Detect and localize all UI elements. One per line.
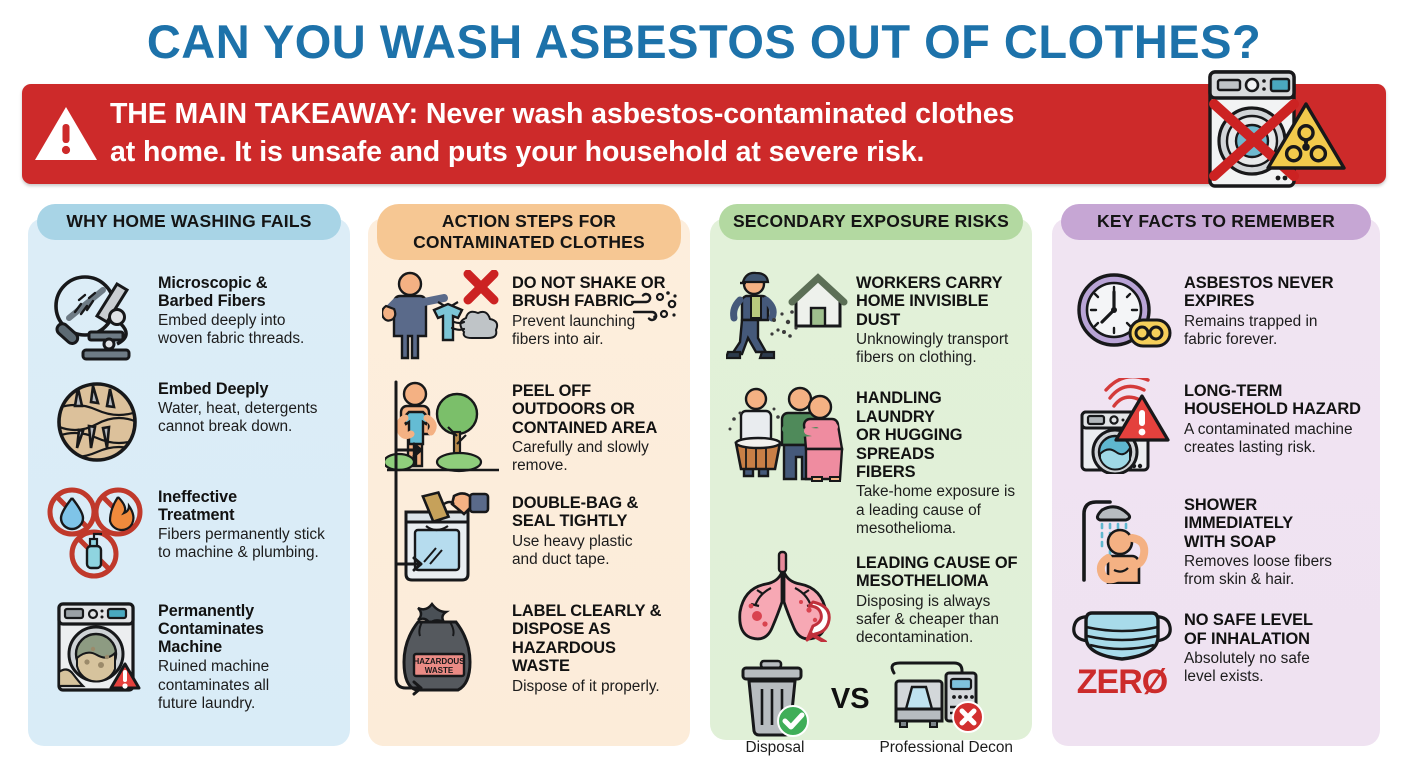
list-item: Microscopic & Barbed Fibers Embed deeply… — [42, 270, 336, 362]
item-title: ASBESTOS NEVER EXPIRES — [1184, 274, 1366, 311]
microscope-fiber-icon — [42, 270, 152, 362]
item-title: Permanently Contaminates Machine — [158, 602, 336, 656]
item-body: Unknowingly transport fibers on clothing… — [856, 331, 1018, 367]
item-title: PEEL OFF OUTDOORS OR CONTAINED AREA — [512, 382, 676, 437]
laundry-basket-hugging-couple-icon — [724, 385, 850, 485]
panel-action-steps: ACTION STEPS FOR CONTAMINATED CLOTHES — [368, 218, 690, 746]
list-item: LEADING CAUSE OF MESOTHELIOMA Disposing … — [724, 550, 1018, 647]
face-mask-icon: ZERØ — [1066, 603, 1178, 702]
infographic-root: CAN YOU WASH ASBESTOS OUT OF CLOTHES? TH… — [0, 0, 1408, 768]
item-body: Absolutely no safe level exists. — [1184, 650, 1366, 686]
person-shaking-shirt-prohibited-icon — [382, 270, 506, 364]
washing-machine-prohibited-biohazard-icon — [1196, 68, 1348, 190]
item-title: Embed Deeply — [158, 380, 336, 398]
vs-label: VS — [831, 683, 870, 716]
list-item: DO NOT SHAKE OR BRUSH FABRIC Prevent lau… — [382, 270, 676, 364]
zero-label: ZERØ — [1077, 663, 1167, 702]
list-item: DOUBLE-BAG & SEAL TIGHTLY Use heavy plas… — [382, 490, 676, 584]
page-title: CAN YOU WASH ASBESTOS OUT OF CLOTHES? — [0, 14, 1408, 69]
list-item: Ineffective Treatment Fibers permanently… — [42, 484, 336, 582]
trash-can-icon — [729, 659, 821, 737]
item-title: WORKERS CARRY HOME INVISIBLE DUST — [856, 274, 1018, 329]
washing-machine-alert-icon — [1066, 378, 1178, 474]
decontamination-machine-icon — [880, 659, 1013, 737]
panel-why-home-washing-fails: WHY HOME WASHING FAILS — [28, 218, 350, 746]
clock-infinity-icon — [1066, 270, 1178, 360]
fabric-weave-fibers-icon — [42, 376, 152, 468]
item-title: NO SAFE LEVEL OF INHALATION — [1184, 611, 1366, 648]
comparison-left: Disposal — [729, 659, 821, 757]
item-title: LEADING CAUSE OF MESOTHELIOMA — [856, 554, 1018, 591]
item-body: Removes loose fibers from skin & hair. — [1184, 553, 1366, 589]
panel-heading-col4: KEY FACTS TO REMEMBER — [1061, 204, 1371, 240]
person-removing-shirt-outdoors-icon — [382, 378, 506, 478]
no-water-no-heat-no-detergent-icon — [42, 484, 152, 582]
diseased-lungs-ribbon-icon — [724, 550, 850, 642]
panel-secondary-exposure-risks: SECONDARY EXPOSURE RISKS — [710, 218, 1032, 740]
item-title: LONG-TERM HOUSEHOLD HAZARD — [1184, 382, 1366, 419]
item-title: Microscopic & Barbed Fibers — [158, 274, 336, 310]
banner-line1-rest: Never wash asbestos-contaminated clothes — [418, 98, 1014, 130]
panel-heading-col3: SECONDARY EXPOSURE RISKS — [719, 204, 1023, 240]
banner-lead: THE MAIN TAKEAWAY: — [110, 98, 418, 130]
item-body: A contaminated machine creates lasting r… — [1184, 421, 1366, 457]
list-item: Embed Deeply Water, heat, detergents can… — [42, 376, 336, 468]
comparison-right: Professional Decon — [880, 659, 1013, 757]
item-body: Water, heat, detergents cannot break dow… — [158, 400, 336, 436]
item-title: HANDLING LAUNDRY OR HUGGING SPREADS FIBE… — [856, 389, 1018, 481]
list-item: HANDLING LAUNDRY OR HUGGING SPREADS FIBE… — [724, 385, 1018, 537]
main-takeaway-banner: THE MAIN TAKEAWAY: Never wash asbestos-c… — [22, 84, 1386, 184]
list-item: LONG-TERM HOUSEHOLD HAZARD A contaminate… — [1066, 378, 1366, 474]
svg-text:WASTE: WASTE — [425, 666, 454, 675]
banner-line2: at home. It is unsafe and puts your hous… — [110, 134, 1014, 172]
panel-key-facts: KEY FACTS TO REMEMBER — [1052, 218, 1380, 746]
panel-heading-col2: ACTION STEPS FOR CONTAMINATED CLOTHES — [377, 204, 681, 260]
disposal-vs-decon-comparison: Disposal VS — [724, 659, 1018, 757]
item-body: Use heavy plastic and duct tape. — [512, 533, 676, 569]
item-title: SHOWER IMMEDIATELY WITH SOAP — [1184, 496, 1366, 551]
item-body: Disposing is always safer & cheaper than… — [856, 593, 1018, 648]
item-body: Carefully and slowly remove. — [512, 439, 676, 475]
item-body: Dispose of it properly. — [512, 678, 676, 696]
list-item: ZERØ NO SAFE LEVEL OF INHALATION Absolut… — [1066, 603, 1366, 702]
panel-heading-col1: WHY HOME WASHING FAILS — [37, 204, 341, 240]
svg-text:HAZARDOUS: HAZARDOUS — [413, 657, 465, 666]
item-body: Embed deeply into woven fabric threads. — [158, 312, 336, 348]
list-item: ASBESTOS NEVER EXPIRES Remains trapped i… — [1066, 270, 1366, 360]
comparison-left-label: Disposal — [729, 739, 821, 757]
comparison-right-label: Professional Decon — [880, 739, 1013, 757]
item-body: Remains trapped in fabric forever. — [1184, 313, 1366, 349]
item-title: Ineffective Treatment — [158, 488, 336, 524]
warning-triangle-icon — [22, 104, 110, 164]
wind-dust-icon — [628, 288, 680, 326]
contaminated-washing-machine-icon — [42, 598, 152, 698]
worker-walking-home-dust-icon — [724, 270, 850, 362]
item-body: Ruined machine contaminates all future l… — [158, 658, 336, 713]
banner-text: THE MAIN TAKEAWAY: Never wash asbestos-c… — [110, 96, 1214, 172]
item-title: DOUBLE-BAG & SEAL TIGHTLY — [512, 494, 676, 531]
list-item: HAZARDOUS WASTE LABEL CLEARLY & DISPOSE … — [382, 598, 676, 696]
list-item: WORKERS CARRY HOME INVISIBLE DUST Unknow… — [724, 270, 1018, 367]
shower-person-icon — [1066, 492, 1178, 584]
hazardous-waste-bag-icon: HAZARDOUS WASTE — [382, 598, 506, 694]
item-body: Take-home exposure is a leading cause of… — [856, 483, 1018, 538]
item-title: LABEL CLEARLY & DISPOSE AS HAZARDOUS WAS… — [512, 602, 676, 676]
list-item: Permanently Contaminates Machine Ruined … — [42, 598, 336, 713]
item-body: Fibers permanently stick to machine & pl… — [158, 526, 336, 562]
sealed-plastic-bag-tape-icon — [382, 490, 506, 584]
list-item: SHOWER IMMEDIATELY WITH SOAP Removes loo… — [1066, 492, 1366, 589]
list-item: PEEL OFF OUTDOORS OR CONTAINED AREA Care… — [382, 378, 676, 478]
